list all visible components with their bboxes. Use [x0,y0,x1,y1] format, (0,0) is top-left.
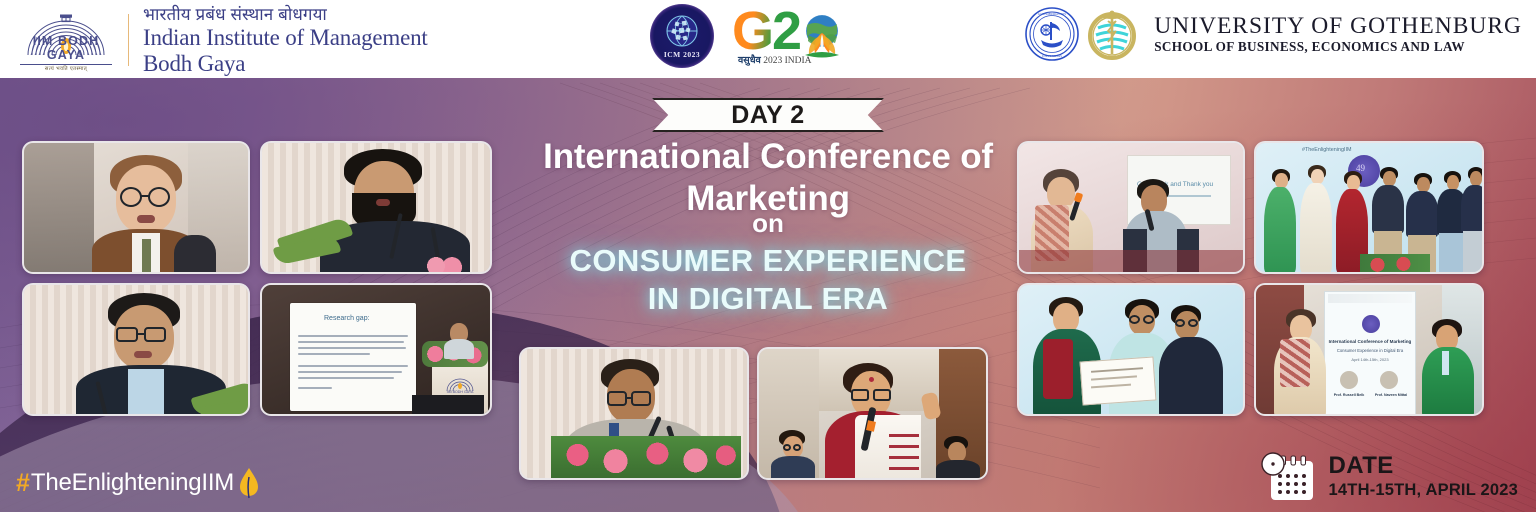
iim-bodh-gaya-logo-icon: IIM BODH GAYA सत्यं भवति एतस्मात् [14,7,118,73]
photo-content: Good Luck and Thank you [1019,143,1243,272]
photo-group-stage[interactable]: #TheEnlighteningIIM 49 [1254,141,1484,274]
banner-header: IIM BODH GAYA सत्यं भवति एतस्मात् भारतीय… [0,0,1536,78]
header-divider [128,14,129,66]
photo-content [262,143,490,272]
calendar-clock-icon [1259,452,1317,502]
photo-certificate-award[interactable] [1017,283,1245,416]
svg-text:IIM BODH GAYA: IIM BODH GAYA [447,390,474,393]
icm-2023-logo-icon: ICM 2023 [650,4,714,68]
photo-speaker-online-2[interactable] [22,283,250,416]
gothenburg-university-seal-icon: GOTHOBURGENSIS UNIVERSITAS [1024,6,1080,62]
photo-content [521,349,747,478]
globe-network-icon [662,12,702,52]
bodhi-leaf-flame-icon [237,467,261,499]
standee-subtitle: Consumer Experience in Digital Era [1328,348,1412,353]
photo-qa-session[interactable]: Good Luck and Thank you [1017,141,1245,274]
standee-title: International Conference of Marketing [1328,339,1412,344]
g20-sub-devanagari: वसुधैव [738,56,761,66]
iim-name-hindi: भारतीय प्रबंध संस्थान बोधगया [143,4,428,25]
date-label: DATE [1329,453,1518,479]
conference-banner: IIM BODH GAYA सत्यं भवति एतस्मात् भारतीय… [0,0,1536,512]
hashtag-label: TheEnlighteningIIM [31,469,234,497]
photo-content: International Conference of Marketing Co… [1256,285,1482,414]
date-value: 14TH-15TH, APRIL 2023 [1329,480,1518,501]
standee-speaker-2: Prof. Naveen Mittal [1372,393,1410,397]
iim-name-english: Indian Institute of Management [143,25,428,51]
photo-speaker-online-1[interactable] [22,141,250,274]
g20-logo-icon: G2 [732,9,847,63]
photo-content [759,349,986,478]
slide-heading: Research gap: [324,315,370,322]
date-block: DATE 14TH-15TH, APRIL 2023 [1259,452,1518,502]
school-of-business-seal-icon [1084,6,1140,62]
date-text-group: DATE 14TH-15TH, APRIL 2023 [1329,453,1518,500]
photo-content [24,285,248,414]
iim-logo-motto: सत्यं भवति एतस्मात् [14,64,118,72]
iim-wordmark: भारतीय प्रबंध संस्थान बोधगया Indian Inst… [143,4,428,77]
hashtag-block: # TheEnlighteningIIM [16,467,261,499]
iim-branding: IIM BODH GAYA सत्यं भवति एतस्मात् भारतीय… [14,4,428,77]
photo-presentation-research-gap[interactable]: Research gap: IIM BODH GAYA [260,283,492,416]
center-logos: ICM 2023 G2 [650,4,847,68]
backdrop-hashtag: #TheEnlighteningIIM [1302,147,1351,153]
photo-content [24,143,248,272]
gothenburg-branding: GOTHOBURGENSIS UNIVERSITAS UNIVERSITY OF… [1024,6,1522,62]
photo-content [1019,285,1243,414]
svg-text:UNIVERSITAS: UNIVERSITAS [1042,54,1062,58]
photo-poster-standee[interactable]: International Conference of Marketing Co… [1254,283,1484,416]
photo-content: #TheEnlighteningIIM 49 [1256,143,1482,272]
photo-speaker-bearded[interactable] [260,141,492,274]
photo-audience-question[interactable] [757,347,988,480]
photo-podium-speaker[interactable] [519,347,749,480]
standee-date: April 14th-15th, 2023 [1328,357,1412,362]
g20-sub-country: INDIA [785,56,812,66]
g20-mark: G2 [732,9,800,53]
iim-campus-english: Bodh Gaya [143,51,428,77]
iim-logo-name: IIM BODH GAYA [14,34,118,62]
svg-text:GOTHOBURGENSIS: GOTHOBURGENSIS [1038,12,1066,16]
standee-speaker-1: Prof. Russell Belk [1330,393,1368,397]
icm-logo-label: ICM 2023 [664,50,700,59]
hash-symbol: # [16,469,30,498]
g20-sub-year: 2023 [763,56,782,66]
gothenburg-school-name: SCHOOL OF BUSINESS, ECONOMICS AND LAW [1154,39,1522,55]
gothenburg-university-name: UNIVERSITY OF GOTHENBURG [1154,13,1522,39]
g20-sublabel: वसुधैव 2023 INDIA [738,53,812,66]
photo-content: Research gap: IIM BODH GAYA [262,285,490,414]
gothenburg-wordmark: UNIVERSITY OF GOTHENBURG SCHOOL OF BUSIN… [1154,13,1522,55]
